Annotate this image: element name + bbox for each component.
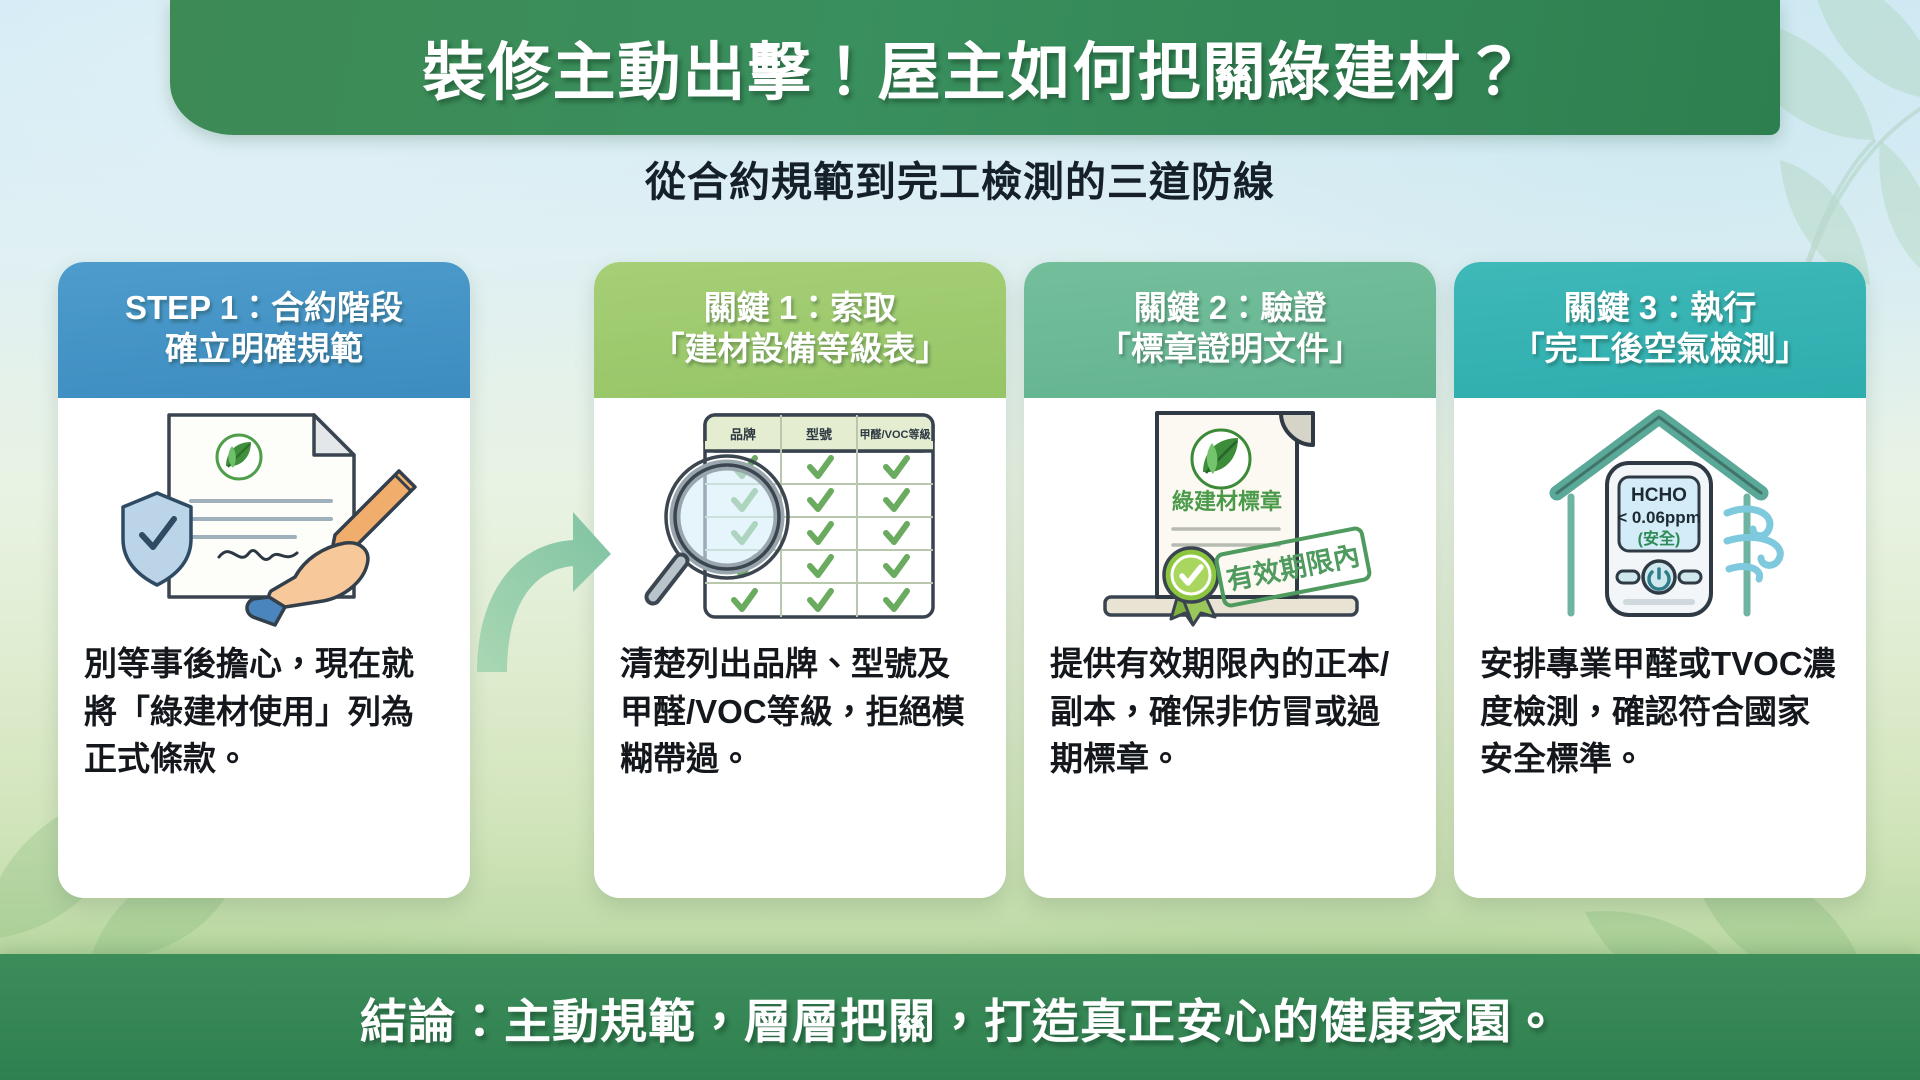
spec-table-header-model: 型號 <box>806 427 832 442</box>
page-title: 裝修主動出擊！屋主如何把關綠建材？ <box>423 22 1528 113</box>
card-key-1-header: 關鍵 1：索取 「建材設備等級表」 <box>594 262 1006 398</box>
card-key-2[interactable]: 關鍵 2：驗證 「標章證明文件」 <box>1024 262 1436 898</box>
air-quality-meter-illustration: HCHO < 0.06ppm (安全) <box>1454 398 1866 634</box>
card-key-1-title-line2: 「建材設備等級表」 <box>604 329 996 370</box>
card-key-3-body: 安排專業甲醛或TVOC濃度檢測，確認符合國家安全標準。 <box>1454 634 1866 898</box>
card-key-2-body: 提供有效期限內的正本/副本，確保非仿冒或過期標章。 <box>1024 634 1436 898</box>
page-subtitle: 從合約規範到完工檢測的三道防線 <box>0 148 1920 208</box>
card-key-1-title-line1: 關鍵 1：索取 <box>604 288 996 329</box>
header-title-band: 裝修主動出擊！屋主如何把關綠建材？ <box>170 0 1780 135</box>
card-key-2-title-line2: 「標章證明文件」 <box>1034 329 1426 370</box>
spec-table-header-grade: 甲醛/VOC等級 <box>860 427 932 441</box>
steps-card-row: STEP 1：合約階段 確立明確規範 <box>58 262 1866 898</box>
card-key-1[interactable]: 關鍵 1：索取 「建材設備等級表」 <box>594 262 1006 898</box>
card-key-3[interactable]: 關鍵 3：執行 「完工後空氣檢測」 HCHO < 0.06ppm (安全) <box>1454 262 1866 898</box>
meter-reading-label: HCHO <box>1631 485 1687 506</box>
infographic-canvas: 裝修主動出擊！屋主如何把關綠建材？ 從合約規範到完工檢測的三道防線 STEP 1… <box>0 0 1920 1080</box>
certificate-title: 綠建材標章 <box>1172 489 1282 514</box>
spec-table-with-magnifier-illustration: 品牌 型號 甲醛/VOC等級 <box>594 398 1006 634</box>
meter-reading-value: < 0.06ppm <box>1617 508 1701 527</box>
card-step-1-header: STEP 1：合約階段 確立明確規範 <box>58 262 470 398</box>
contract-signing-illustration <box>58 398 470 634</box>
card-step-1-title-line2: 確立明確規範 <box>68 329 460 370</box>
card-key-3-header: 關鍵 3：執行 「完工後空氣檢測」 <box>1454 262 1866 398</box>
certificate-illustration: 綠建材標章 有 <box>1024 398 1436 634</box>
card-step-1[interactable]: STEP 1：合約階段 確立明確規範 <box>58 262 470 898</box>
spec-table-header-brand: 品牌 <box>730 427 756 442</box>
card-key-3-title-line1: 關鍵 3：執行 <box>1464 288 1856 329</box>
card-key-2-title-line1: 關鍵 2：驗證 <box>1034 288 1426 329</box>
card-step-1-title-line1: STEP 1：合約階段 <box>68 288 460 329</box>
card-key-2-header: 關鍵 2：驗證 「標章證明文件」 <box>1024 262 1436 398</box>
footer-conclusion-text: 結論：主動規範，層層把關，打造真正安心的健康家園。 <box>360 983 1560 1052</box>
card-key-3-title-line2: 「完工後空氣檢測」 <box>1464 329 1856 370</box>
footer-conclusion-band: 結論：主動規範，層層把關，打造真正安心的健康家園。 <box>0 954 1920 1080</box>
card-step-1-body: 別等事後擔心，現在就將「綠建材使用」列為正式條款。 <box>58 634 470 898</box>
card-key-1-body: 清楚列出品牌、型號及甲醛/VOC等級，拒絕模糊帶過。 <box>594 634 1006 898</box>
meter-reading-status: (安全) <box>1638 529 1681 548</box>
